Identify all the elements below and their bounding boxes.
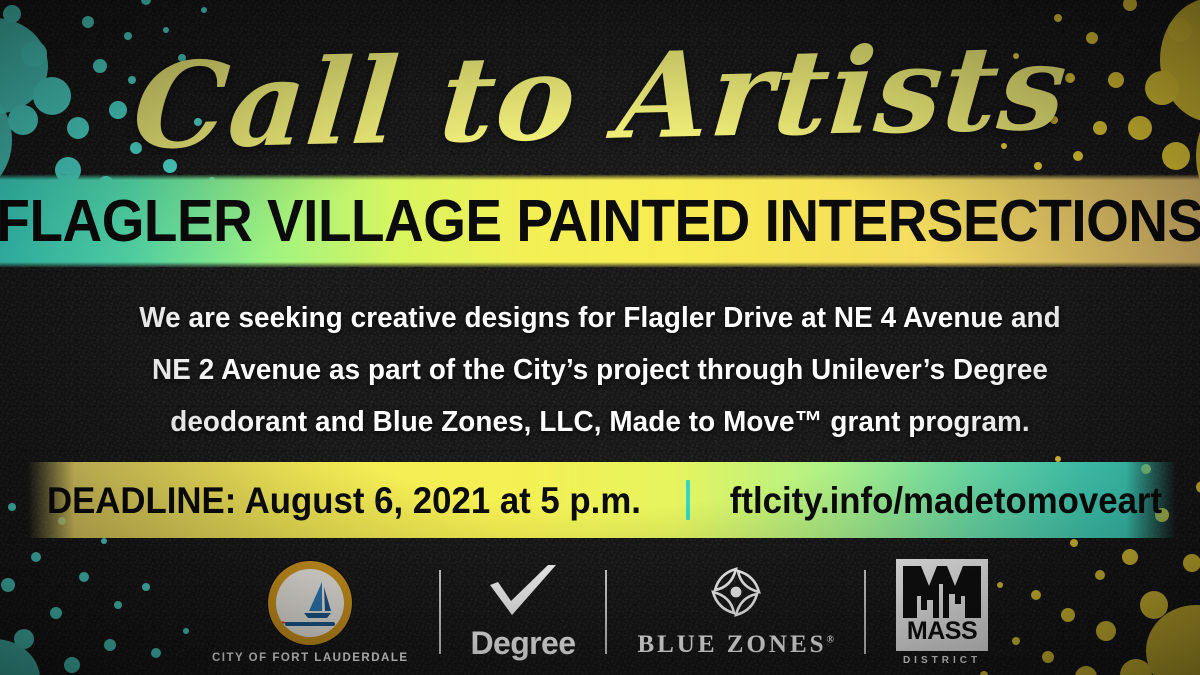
poster-canvas: Call to Artists FLAGLER VILLAGE PAINTED …: [0, 0, 1200, 675]
vignette-overlay: [0, 0, 1200, 675]
